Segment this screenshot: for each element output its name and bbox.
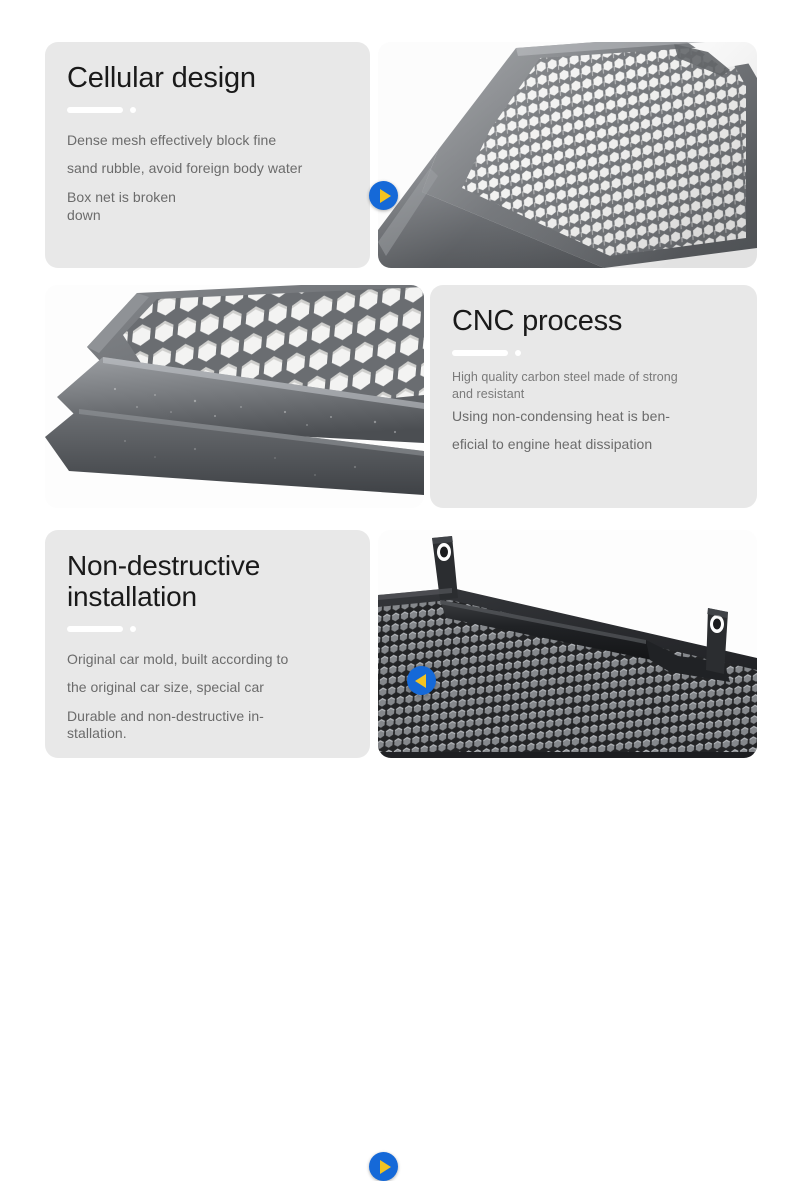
feature-card-cnc-process: CNC process High quality carbon steel ma… [430, 285, 757, 508]
feature-body: High quality carbon steel made of strong… [452, 369, 735, 458]
feature-row-cellular-design: Cellular design Dense mesh effectively b… [0, 42, 800, 268]
title-divider [452, 350, 735, 356]
feature-body-line: Original car mold, built according to [67, 645, 348, 673]
feature-title: CNC process [452, 305, 735, 337]
feature-body-line: High quality carbon steel made of strong… [452, 369, 735, 402]
feature-row-cnc-process: CNC process High quality carbon steel ma… [0, 285, 800, 508]
feature-card-cellular-design: Cellular design Dense mesh effectively b… [45, 42, 370, 268]
feature-body: Original car mold, built according to th… [67, 645, 348, 743]
title-divider [67, 107, 348, 113]
next-arrow-icon[interactable] [369, 181, 398, 210]
title-divider [67, 626, 348, 632]
feature-title: Non-destructive installation [67, 550, 348, 613]
feature-body: Dense mesh effectively block fine sand r… [67, 126, 348, 224]
feature-title: Cellular design [67, 62, 348, 94]
feature-card-non-destructive-installation: Non-destructive installation Original ca… [45, 530, 370, 758]
feature-body-line: eficial to engine heat dissipation [452, 430, 735, 458]
feature-image-cellular-design [378, 42, 757, 268]
divider-bar-icon [67, 107, 123, 113]
feature-body-line: sand rubble, avoid foreign body water [67, 154, 348, 182]
divider-dot-icon [515, 350, 521, 356]
feature-body-line: Using non-condensing heat is ben- [452, 402, 735, 430]
feature-body-line: the original car size, special car [67, 673, 348, 701]
feature-body-line: Dense mesh effectively block fine [67, 126, 348, 154]
divider-dot-icon [130, 626, 136, 632]
feature-image-cnc-process [45, 285, 424, 508]
feature-body-line: Box net is broken down [67, 189, 348, 224]
previous-arrow-icon[interactable] [407, 666, 436, 695]
infographic-page: Cellular design Dense mesh effectively b… [0, 0, 800, 800]
feature-body-line: Durable and non-destructive in- stallati… [67, 708, 348, 743]
divider-bar-icon [452, 350, 508, 356]
next-arrow-icon[interactable] [369, 1152, 398, 1181]
divider-dot-icon [130, 107, 136, 113]
feature-image-non-destructive-installation [378, 530, 757, 758]
feature-row-non-destructive-installation: Non-destructive installation Original ca… [0, 530, 800, 758]
divider-bar-icon [67, 626, 123, 632]
